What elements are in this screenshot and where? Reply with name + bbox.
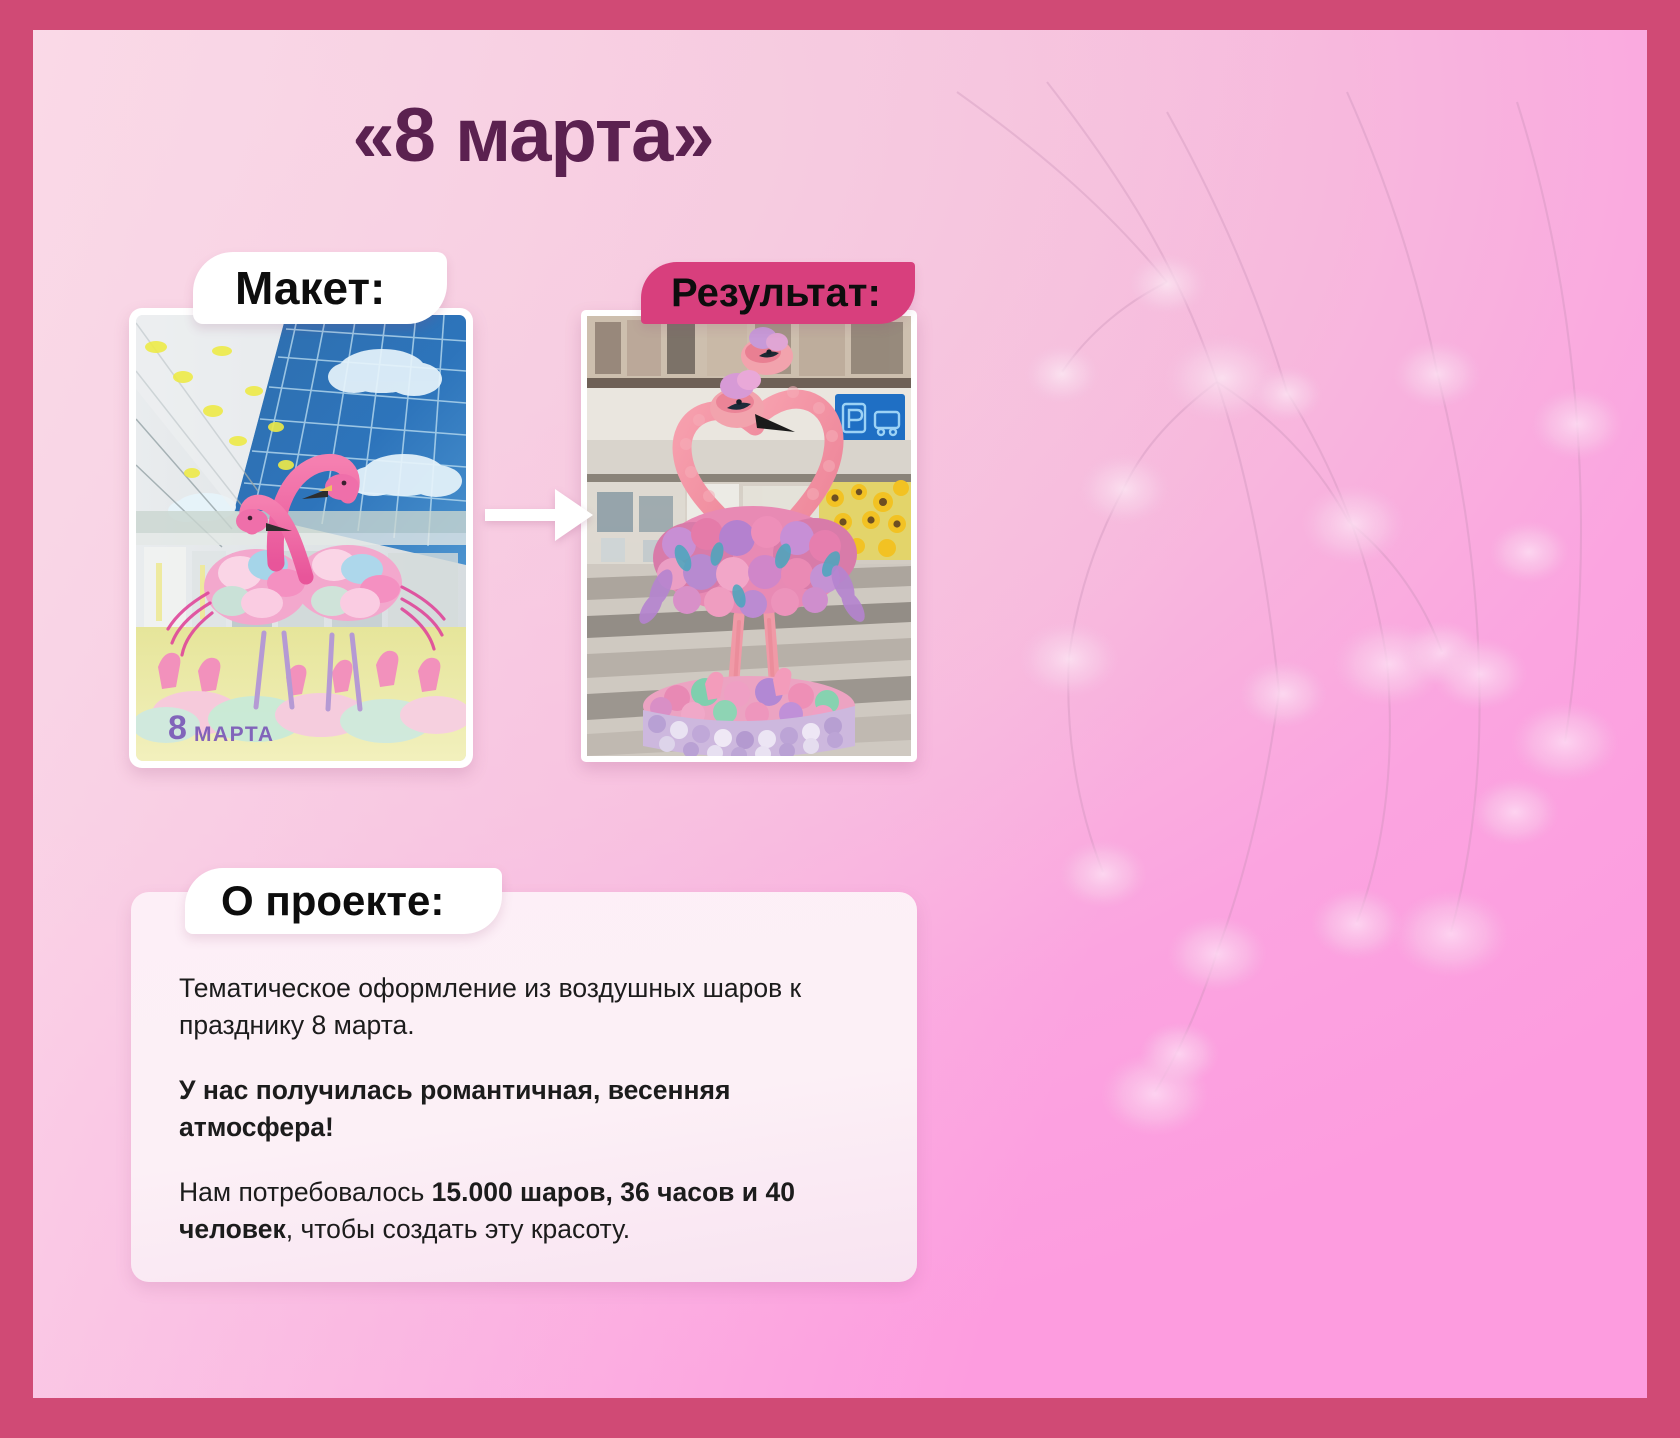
about-paragraph-1: Тематическое оформление из воздушных шар… (179, 970, 869, 1044)
result-image (587, 316, 911, 756)
mockup-image-card: 8 МАРТА 8 МАРТА (129, 308, 473, 768)
page-title: «8 марта» (33, 92, 1033, 179)
about-p3-suffix: , чтобы создать эту красоту. (286, 1214, 630, 1244)
about-panel: Тематическое оформление из воздушных шар… (131, 892, 917, 1282)
about-p3-prefix: Нам потребовалось (179, 1177, 432, 1207)
slide-frame: «8 марта» Макет: (0, 0, 1680, 1438)
about-paragraph-3: Нам потребовалось 15.000 шаров, 36 часов… (179, 1174, 869, 1248)
about-text-block: Тематическое оформление из воздушных шар… (179, 970, 869, 1249)
badge-result-label: Результат: (671, 273, 881, 313)
badge-mockup-label: Макет: (235, 265, 385, 311)
arrow-right-icon (485, 485, 595, 545)
result-image-card (581, 310, 917, 762)
svg-text:8: 8 (168, 709, 187, 747)
mockup-image: 8 МАРТА 8 МАРТА (136, 315, 466, 761)
badge-mockup: Макет: (193, 252, 447, 324)
slide-canvas: «8 марта» Макет: (33, 30, 1647, 1398)
svg-text:МАРТА: МАРТА (194, 723, 275, 746)
about-paragraph-2: У нас получилась романтичная, весенняя а… (179, 1072, 869, 1146)
badge-about: О проекте: (185, 868, 502, 934)
badge-about-label: О проекте: (221, 880, 444, 922)
sakura-branch-decoration (917, 52, 1647, 1182)
badge-result: Результат: (641, 262, 915, 324)
